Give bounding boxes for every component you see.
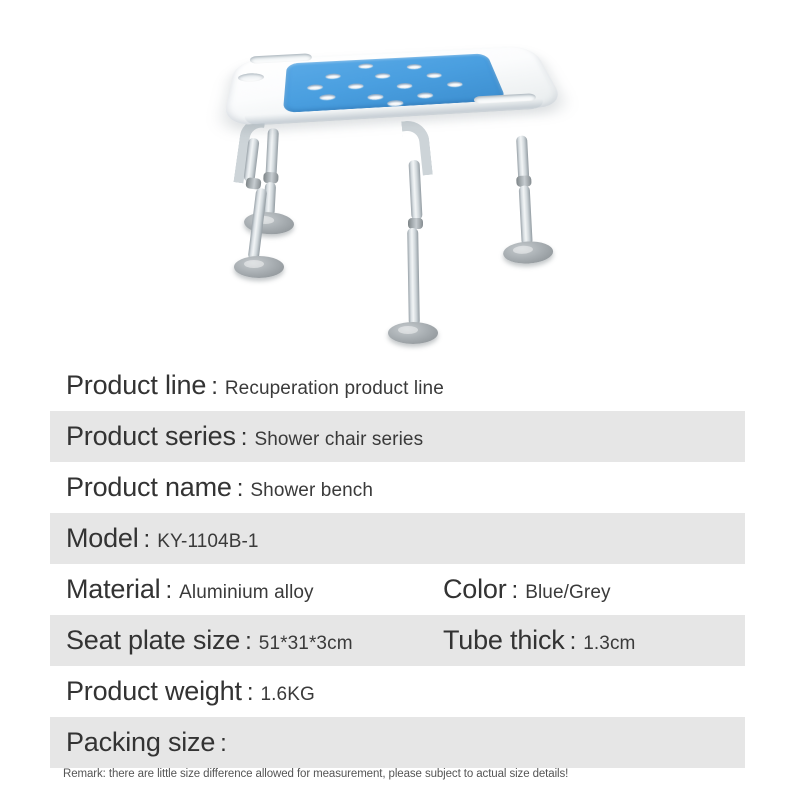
shower-bench-illustration xyxy=(190,8,620,360)
spec-label: Product name xyxy=(66,472,232,503)
remark-note: Remark: there are little size difference… xyxy=(63,768,763,780)
spec-label-secondary: Tube thick xyxy=(443,625,565,656)
spec-colon: : xyxy=(215,730,234,758)
spec-row-product-line: Product line : Recuperation product line xyxy=(50,360,745,411)
spec-colon-secondary: : xyxy=(507,577,526,605)
spec-value: 1.6KG xyxy=(260,684,314,706)
spec-label-secondary: Color xyxy=(443,574,507,605)
product-spec-sheet: Product line : Recuperation product line… xyxy=(0,0,800,800)
spec-row-packing-size: Packing size : xyxy=(50,717,745,768)
spec-label: Material xyxy=(66,574,160,605)
spec-label: Product line xyxy=(66,370,206,401)
spec-row-product-weight: Product weight : 1.6KG xyxy=(50,666,745,717)
spec-value: Recuperation product line xyxy=(225,378,444,400)
spec-value: Shower chair series xyxy=(254,429,423,451)
spec-cell-primary: Model : KY-1104B-1 xyxy=(50,523,443,554)
spec-cell-primary: Packing size : xyxy=(50,727,443,758)
spec-colon: : xyxy=(240,628,259,656)
spec-row-product-name: Product name : Shower bench xyxy=(50,462,745,513)
spec-label: Seat plate size xyxy=(66,625,240,656)
spec-cell-primary: Product name : Shower bench xyxy=(50,472,443,503)
spec-cell-primary: Seat plate size : 51*31*3cm xyxy=(50,625,443,656)
spec-value: KY-1104B-1 xyxy=(157,531,258,553)
spec-value-secondary: Blue/Grey xyxy=(525,582,610,604)
specification-table: Product line : Recuperation product line… xyxy=(50,360,745,768)
spec-cell-primary: Product series : Shower chair series xyxy=(50,421,443,452)
spec-row-material-color: Material : Aluminium alloy Color : Blue/… xyxy=(50,564,745,615)
spec-value: Shower bench xyxy=(250,480,373,502)
product-photo xyxy=(0,0,800,360)
spec-value-secondary: 1.3cm xyxy=(583,633,635,655)
spec-cell-primary: Product line : Recuperation product line xyxy=(50,370,443,401)
spec-value: 51*31*3cm xyxy=(259,633,353,655)
spec-label: Packing size xyxy=(66,727,215,758)
spec-cell-secondary: Tube thick : 1.3cm xyxy=(443,625,635,656)
spec-colon: : xyxy=(206,373,225,401)
spec-label: Product series xyxy=(66,421,236,452)
spec-colon: : xyxy=(232,475,251,503)
spec-row-model: Model : KY-1104B-1 xyxy=(50,513,745,564)
spec-label: Product weight xyxy=(66,676,242,707)
spec-cell-secondary: Color : Blue/Grey xyxy=(443,574,611,605)
spec-cell-primary: Material : Aluminium alloy xyxy=(50,574,443,605)
spec-colon-secondary: : xyxy=(565,628,584,656)
spec-row-seat-plate-tube: Seat plate size : 51*31*3cm Tube thick :… xyxy=(50,615,745,666)
spec-colon: : xyxy=(139,526,158,554)
spec-cell-primary: Product weight : 1.6KG xyxy=(50,676,443,707)
spec-colon: : xyxy=(160,577,179,605)
spec-label: Model xyxy=(66,523,139,554)
spec-colon: : xyxy=(242,679,261,707)
spec-row-product-series: Product series : Shower chair series xyxy=(50,411,745,462)
spec-colon: : xyxy=(236,424,255,452)
spec-value: Aluminium alloy xyxy=(179,582,314,604)
